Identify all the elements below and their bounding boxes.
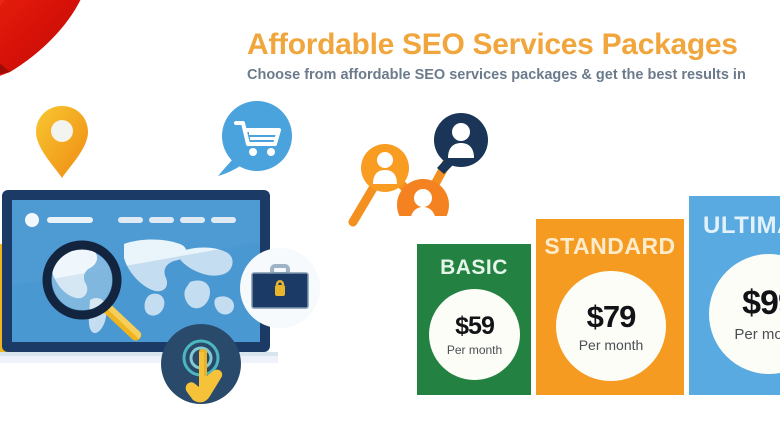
- pricing-bubble: $79 Per month: [556, 271, 666, 381]
- pricing-amount: $79: [587, 301, 636, 332]
- pricing-amount: $99: [742, 286, 780, 320]
- pricing-amount: $59: [455, 314, 494, 339]
- pricing-bubble: $99 Per month: [709, 254, 780, 374]
- corner-ribbon: [0, 0, 120, 92]
- pricing-card-title: ULTIMATE: [703, 212, 780, 240]
- pricing-card-standard[interactable]: STANDARD $79 Per month: [536, 219, 684, 395]
- pricing-period: Per month: [447, 344, 502, 356]
- pricing-card-ultimate[interactable]: ULTIMATE $99 Per month: [689, 196, 780, 395]
- banner-title: Affordable SEO Services Packages: [247, 28, 780, 62]
- click-cursor-icon: [155, 322, 255, 422]
- pricing-card-basic[interactable]: BASIC $59 Per month: [417, 244, 531, 395]
- pricing-bubble: $59 Per month: [429, 289, 520, 380]
- pricing-card-title: BASIC: [417, 256, 531, 280]
- seo-banner-image: Affordable SEO Services Packages Choose …: [0, 0, 780, 440]
- shopping-cart-bubble-icon: [212, 99, 298, 183]
- pricing-period: Per month: [734, 327, 780, 342]
- pricing-period: Per month: [579, 338, 644, 352]
- user-magnifier-icon: [434, 113, 488, 174]
- map-pin-icon: [34, 104, 90, 182]
- user-badge-icon: [394, 176, 452, 234]
- pricing-card-title: STANDARD: [536, 233, 684, 260]
- banner-subtitle: Choose from affordable SEO services pack…: [247, 66, 780, 85]
